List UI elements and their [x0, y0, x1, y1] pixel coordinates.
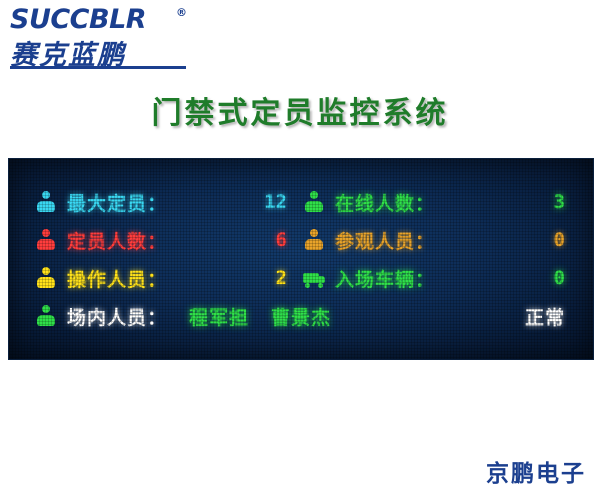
person-icon	[303, 190, 325, 214]
operator-count-label: 操作人员：	[67, 265, 167, 292]
logo-english-text: SUCCBLR	[10, 4, 146, 35]
onsite-personnel-label: 场内人员：	[67, 303, 167, 330]
led-content-grid: 最大定员： 12 在线人数： 3 定员人数： 6 参观人员： 0	[35, 183, 569, 335]
max-capacity-value: 12	[203, 191, 303, 213]
led-row: 最大定员： 12 在线人数： 3	[35, 183, 569, 221]
operator-count-value: 2	[203, 267, 303, 289]
online-count-field: 在线人数： 3	[303, 189, 569, 216]
max-capacity-field: 最大定员： 12	[35, 189, 303, 216]
visitor-count-value: 0	[495, 229, 569, 251]
visitor-count-label: 参观人员：	[335, 227, 435, 254]
staff-quota-label: 定员人数：	[67, 227, 167, 254]
list-item: 程军担	[189, 303, 249, 330]
vehicle-count-value: 0	[495, 267, 569, 289]
online-count-value: 3	[495, 191, 569, 213]
led-row: 定员人数： 6 参观人员： 0	[35, 221, 569, 259]
max-capacity-label: 最大定员：	[67, 189, 167, 216]
logo-divider	[10, 66, 186, 69]
registered-trademark-icon: ®	[176, 6, 187, 19]
list-item: 曹景杰	[271, 303, 331, 330]
page-title: 门禁式定员监控系统	[0, 88, 600, 132]
onsite-personnel-names: 程军担 曹景杰	[189, 303, 331, 330]
staff-quota-value: 6	[203, 229, 303, 251]
footer-brand: 京鹏电子	[486, 454, 586, 488]
vehicle-count-label: 入场车辆：	[335, 265, 435, 292]
staff-quota-field: 定员人数： 6	[35, 227, 303, 254]
status-badge: 正常	[525, 303, 569, 330]
led-display-panel: 最大定员： 12 在线人数： 3 定员人数： 6 参观人员： 0	[8, 158, 594, 360]
led-row: 操作人员： 2 入场车辆： 0	[35, 259, 569, 297]
person-icon	[35, 266, 57, 290]
truck-icon	[303, 266, 325, 290]
person-icon	[35, 190, 57, 214]
onsite-personnel-row: 场内人员： 程军担 曹景杰 正常	[35, 297, 569, 335]
online-count-label: 在线人数：	[335, 189, 435, 216]
operator-count-field: 操作人员： 2	[35, 265, 303, 292]
company-logo: SUCCBLR ® 赛克蓝鹏	[8, 4, 208, 70]
person-icon	[35, 304, 57, 328]
person-icon	[303, 228, 325, 252]
person-icon	[35, 228, 57, 252]
vehicle-count-field: 入场车辆： 0	[303, 265, 569, 292]
visitor-count-field: 参观人员： 0	[303, 227, 569, 254]
